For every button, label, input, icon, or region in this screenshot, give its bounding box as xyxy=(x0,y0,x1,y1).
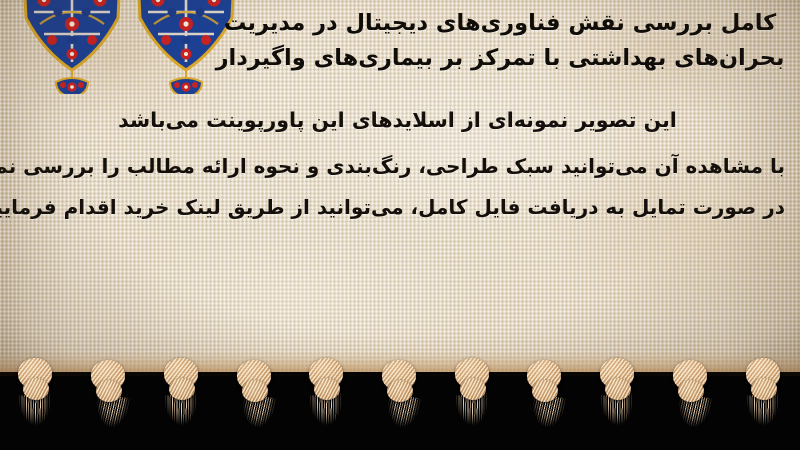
fringe-knot-lower xyxy=(242,380,268,402)
fringe-thread-brush xyxy=(163,393,201,444)
fringe-tassel xyxy=(589,352,647,448)
fringe-tassel xyxy=(735,352,793,448)
slide-text-layer: کامل بررسی نقش فناوری‌های دیجیتال در مدی… xyxy=(0,0,800,376)
presentation-slide: کامل بررسی نقش فناوری‌های دیجیتال در مدی… xyxy=(0,0,800,450)
fringe-thread-brush xyxy=(454,393,492,444)
fringe-tassel xyxy=(226,354,284,450)
fringe-tassel xyxy=(7,352,65,448)
carpet-fringe-tassels xyxy=(0,352,800,450)
fringe-thread-brush xyxy=(17,393,55,444)
fringe-tassel xyxy=(662,354,720,450)
slide-body: این تصویر نمونه‌ای از اسلایدهای این پاور… xyxy=(10,108,785,219)
fringe-knot-lower xyxy=(460,378,486,400)
fringe-tassel xyxy=(80,354,138,450)
fringe-knot-lower xyxy=(96,380,122,402)
body-line-1: این تصویر نمونه‌ای از اسلایدهای این پاور… xyxy=(10,108,785,132)
fringe-thread-brush xyxy=(91,394,131,446)
fringe-tassel xyxy=(371,354,429,450)
fringe-knot-lower xyxy=(605,378,631,400)
fringe-tassel xyxy=(153,352,211,448)
fringe-thread-brush xyxy=(528,394,568,446)
slide-title: کامل بررسی نقش فناوری‌های دیجیتال در مدی… xyxy=(215,6,785,76)
fringe-tassel xyxy=(444,352,502,448)
fringe-knot-lower xyxy=(169,378,195,400)
fringe-thread-brush xyxy=(745,393,783,444)
body-line-2: با مشاهده آن می‌توانید سبک طراحی، رنگ‌بن… xyxy=(10,154,785,178)
fringe-knot-lower xyxy=(387,380,413,402)
fringe-thread-brush xyxy=(308,393,346,444)
fringe-knot-lower xyxy=(678,380,704,402)
fringe-thread-brush xyxy=(599,393,637,444)
fringe-knot-lower xyxy=(751,378,777,400)
body-line-3: در صورت تمایل به دریافت فایل کامل، می‌تو… xyxy=(10,195,785,219)
title-line-2: بحران‌های بهداشتی با تمرکز بر بیماری‌های… xyxy=(215,41,785,76)
fringe-tassel xyxy=(516,354,574,450)
fringe-tassel xyxy=(298,352,356,448)
title-line-1: کامل بررسی نقش فناوری‌های دیجیتال در مدی… xyxy=(215,6,785,41)
